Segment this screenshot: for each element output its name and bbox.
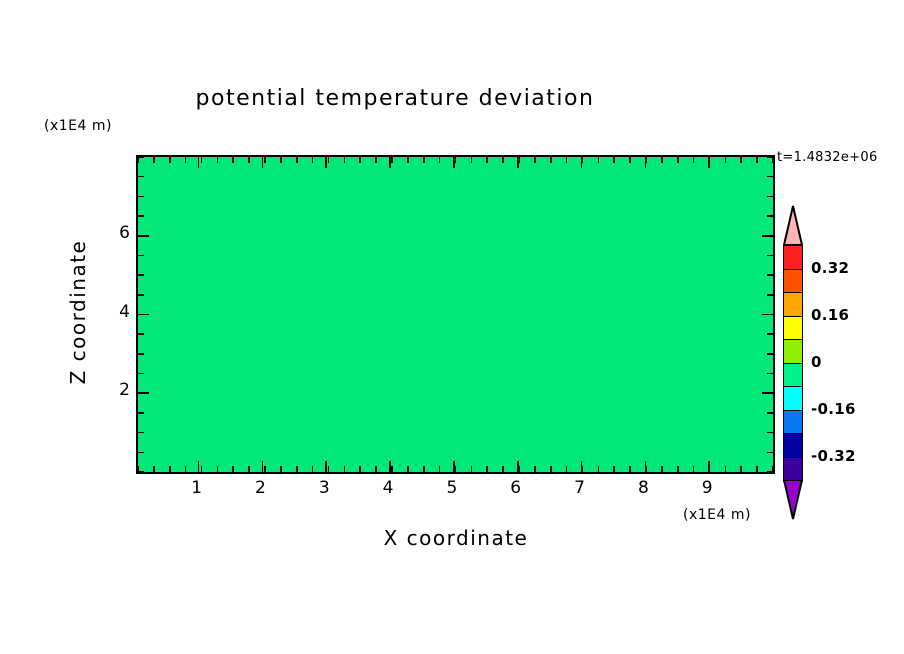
axis-tick	[581, 461, 583, 472]
axis-tick	[137, 157, 139, 163]
contour-field-canvas	[138, 157, 773, 472]
axis-tick	[767, 333, 773, 335]
colorbar-tick-label: 0	[811, 353, 822, 371]
axis-tick	[391, 157, 393, 163]
colorbar-band	[783, 363, 803, 388]
axis-tick	[138, 392, 149, 394]
axis-tick	[344, 157, 346, 163]
colorbar-tick-label: -0.16	[811, 400, 856, 418]
axis-tick	[328, 466, 330, 472]
axis-tick	[280, 157, 282, 163]
colorbar-band	[783, 457, 803, 482]
axis-tick	[138, 314, 149, 316]
axis-tick	[767, 215, 773, 217]
axis-tick	[407, 466, 409, 472]
axis-tick	[767, 176, 773, 178]
axis-tick	[762, 235, 773, 237]
x-tick-label: 4	[375, 478, 401, 498]
x-tick-label: 3	[311, 478, 337, 498]
axis-tick	[138, 452, 144, 454]
axis-tick	[708, 461, 710, 472]
page-title: potential temperature deviation	[0, 86, 790, 111]
axis-tick	[767, 274, 773, 276]
axis-tick	[740, 157, 742, 163]
axis-tick	[661, 466, 663, 472]
axis-tick	[486, 157, 488, 163]
axis-tick	[232, 157, 234, 163]
axis-tick	[201, 466, 203, 472]
axis-tick	[471, 157, 473, 163]
x-tick-label: 9	[694, 478, 720, 498]
colorbar-band	[783, 292, 803, 317]
axis-tick	[217, 157, 219, 163]
x-tick-label: 6	[503, 478, 529, 498]
colorbar-band	[783, 339, 803, 364]
axis-tick	[550, 466, 552, 472]
axis-tick	[312, 466, 314, 472]
y-tick-label: 2	[104, 380, 130, 400]
axis-tick	[767, 471, 773, 473]
axis-tick	[581, 157, 583, 168]
axis-tick	[325, 461, 327, 472]
axis-tick	[169, 157, 171, 163]
axis-tick	[767, 373, 773, 375]
axis-tick	[661, 157, 663, 163]
axis-tick	[502, 157, 504, 163]
axis-tick	[693, 157, 695, 163]
axis-tick	[138, 274, 144, 276]
axis-tick	[138, 215, 144, 217]
axis-tick	[762, 314, 773, 316]
axis-tick	[423, 157, 425, 163]
x-axis-title: X coordinate	[236, 526, 676, 550]
axis-tick	[486, 466, 488, 472]
axis-tick	[264, 157, 266, 163]
x-tick-label: 5	[439, 478, 465, 498]
axis-tick	[534, 466, 536, 472]
axis-tick	[138, 333, 144, 335]
colorbar-band	[783, 410, 803, 435]
axis-tick	[201, 157, 203, 163]
timestamp-annotation: t=1.4832e+06	[777, 150, 878, 165]
axis-tick	[262, 461, 264, 472]
axis-tick	[198, 157, 200, 168]
axis-tick	[248, 157, 250, 163]
y-axis-title: Z coordinate	[66, 212, 90, 412]
colorbar-band	[783, 386, 803, 411]
y-tick-label: 6	[104, 223, 130, 243]
axis-tick	[138, 471, 144, 473]
axis-tick	[439, 466, 441, 472]
axis-tick	[280, 466, 282, 472]
axis-tick	[453, 157, 455, 168]
axis-tick	[693, 466, 695, 472]
axis-tick	[740, 466, 742, 472]
axis-tick	[232, 466, 234, 472]
axis-tick	[423, 466, 425, 472]
x-axis-unit-label: (x1E4 m)	[683, 507, 751, 523]
y-tick-label: 4	[104, 302, 130, 322]
axis-tick	[767, 432, 773, 434]
axis-tick	[138, 176, 144, 178]
axis-tick	[455, 157, 457, 163]
axis-tick	[708, 157, 710, 168]
colorbar-tick-label: 0.16	[811, 306, 849, 324]
axis-tick	[550, 157, 552, 163]
colorbar-over-arrow	[783, 205, 803, 245]
axis-tick	[767, 353, 773, 355]
axis-tick	[534, 157, 536, 163]
axis-tick	[328, 157, 330, 163]
axis-tick	[138, 294, 144, 296]
axis-tick	[185, 157, 187, 163]
axis-tick	[248, 466, 250, 472]
colorbar-band	[783, 269, 803, 294]
axis-tick	[391, 466, 393, 472]
axis-tick	[613, 157, 615, 163]
axis-tick	[389, 461, 391, 472]
colorbar-band	[783, 316, 803, 341]
axis-tick	[767, 255, 773, 257]
axis-tick	[153, 466, 155, 472]
colorbar-tick-label: -0.32	[811, 447, 856, 465]
colorbar-under-arrow	[783, 480, 803, 520]
axis-tick	[138, 432, 144, 434]
axis-tick	[296, 466, 298, 472]
axis-tick	[138, 412, 144, 414]
axis-tick	[138, 156, 144, 158]
axis-tick	[439, 157, 441, 163]
axis-tick	[138, 255, 144, 257]
axis-tick	[471, 466, 473, 472]
axis-tick	[677, 466, 679, 472]
axis-tick	[756, 157, 758, 163]
axis-tick	[598, 157, 600, 163]
axis-tick	[325, 157, 327, 168]
contour-plot-area	[136, 155, 775, 474]
colorbar-band	[783, 245, 803, 270]
axis-tick	[767, 452, 773, 454]
axis-tick	[138, 353, 144, 355]
colorbar-tick-label: 0.32	[811, 259, 849, 277]
axis-tick	[772, 157, 774, 163]
axis-tick	[359, 466, 361, 472]
axis-tick	[217, 466, 219, 472]
axis-tick	[198, 461, 200, 472]
axis-tick	[153, 157, 155, 163]
axis-tick	[169, 466, 171, 472]
axis-tick	[645, 461, 647, 472]
axis-tick	[756, 466, 758, 472]
axis-tick	[767, 156, 773, 158]
axis-tick	[375, 157, 377, 163]
axis-tick	[359, 157, 361, 163]
axis-tick	[312, 157, 314, 163]
axis-tick	[264, 466, 266, 472]
axis-tick	[517, 461, 519, 472]
axis-tick	[185, 466, 187, 472]
axis-tick	[138, 196, 144, 198]
axis-tick	[767, 196, 773, 198]
x-tick-label: 8	[630, 478, 656, 498]
axis-tick	[629, 466, 631, 472]
axis-tick	[453, 461, 455, 472]
axis-tick	[566, 466, 568, 472]
axis-tick	[598, 466, 600, 472]
axis-tick	[344, 466, 346, 472]
y-axis-unit-label: (x1E4 m)	[44, 118, 112, 134]
axis-tick	[407, 157, 409, 163]
colorbar: 0.320.160-0.16-0.32	[783, 205, 805, 520]
axis-tick	[517, 157, 519, 168]
axis-tick	[767, 294, 773, 296]
axis-tick	[767, 412, 773, 414]
axis-tick	[566, 157, 568, 163]
axis-tick	[629, 157, 631, 163]
axis-tick	[262, 157, 264, 168]
axis-tick	[677, 157, 679, 163]
axis-tick	[138, 373, 144, 375]
axis-tick	[645, 157, 647, 168]
axis-tick	[296, 157, 298, 163]
x-tick-label: 2	[247, 478, 273, 498]
x-tick-label: 1	[184, 478, 210, 498]
axis-tick	[762, 392, 773, 394]
axis-tick	[725, 157, 727, 163]
axis-tick	[502, 466, 504, 472]
axis-tick	[613, 466, 615, 472]
axis-tick	[455, 466, 457, 472]
colorbar-band	[783, 433, 803, 458]
x-tick-label: 7	[567, 478, 593, 498]
axis-tick	[725, 466, 727, 472]
axis-tick	[389, 157, 391, 168]
axis-tick	[375, 466, 377, 472]
axis-tick	[138, 235, 149, 237]
